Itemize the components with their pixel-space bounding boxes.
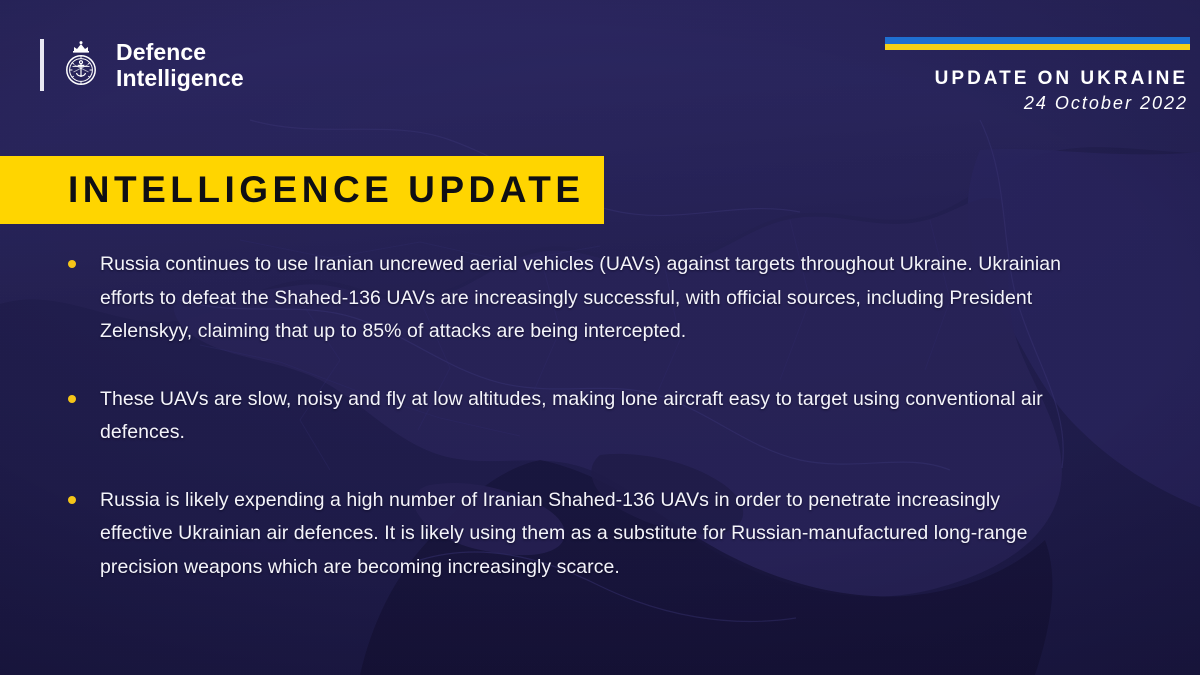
banner-title: INTELLIGENCE UPDATE bbox=[0, 169, 585, 211]
bullet-list: Russia continues to use Iranian uncrewed… bbox=[62, 248, 1072, 584]
ukraine-flag-bar bbox=[885, 37, 1190, 50]
brand-name: Defence Intelligence bbox=[116, 39, 244, 91]
bullet-text: Russia is likely expending a high number… bbox=[100, 484, 1072, 585]
update-title: UPDATE ON UKRAINE bbox=[935, 68, 1188, 90]
bullet-text: Russia continues to use Iranian uncrewed… bbox=[100, 248, 1072, 349]
list-item: Russia is likely expending a high number… bbox=[62, 484, 1072, 585]
list-item: Russia continues to use Iranian uncrewed… bbox=[62, 248, 1072, 349]
update-date: 24 October 2022 bbox=[935, 92, 1188, 115]
update-header: UPDATE ON UKRAINE 24 October 2022 bbox=[935, 68, 1188, 115]
bullet-dot-icon bbox=[68, 395, 76, 403]
bullet-dot-icon bbox=[68, 496, 76, 504]
brand-lockup: Defence Intelligence bbox=[40, 34, 244, 96]
brand-divider bbox=[40, 39, 44, 91]
brand-line-defence: Defence bbox=[116, 39, 244, 65]
bullet-text: These UAVs are slow, noisy and fly at lo… bbox=[100, 383, 1072, 450]
list-item: These UAVs are slow, noisy and fly at lo… bbox=[62, 383, 1072, 450]
intelligence-update-banner: INTELLIGENCE UPDATE bbox=[0, 156, 604, 224]
brand-line-intelligence: Intelligence bbox=[116, 65, 244, 91]
flag-yellow-stripe bbox=[885, 44, 1190, 51]
royal-crest-icon bbox=[58, 39, 104, 91]
bullet-dot-icon bbox=[68, 260, 76, 268]
intelligence-update-graphic: Defence Intelligence UPDATE ON UKRAINE 2… bbox=[0, 0, 1200, 675]
